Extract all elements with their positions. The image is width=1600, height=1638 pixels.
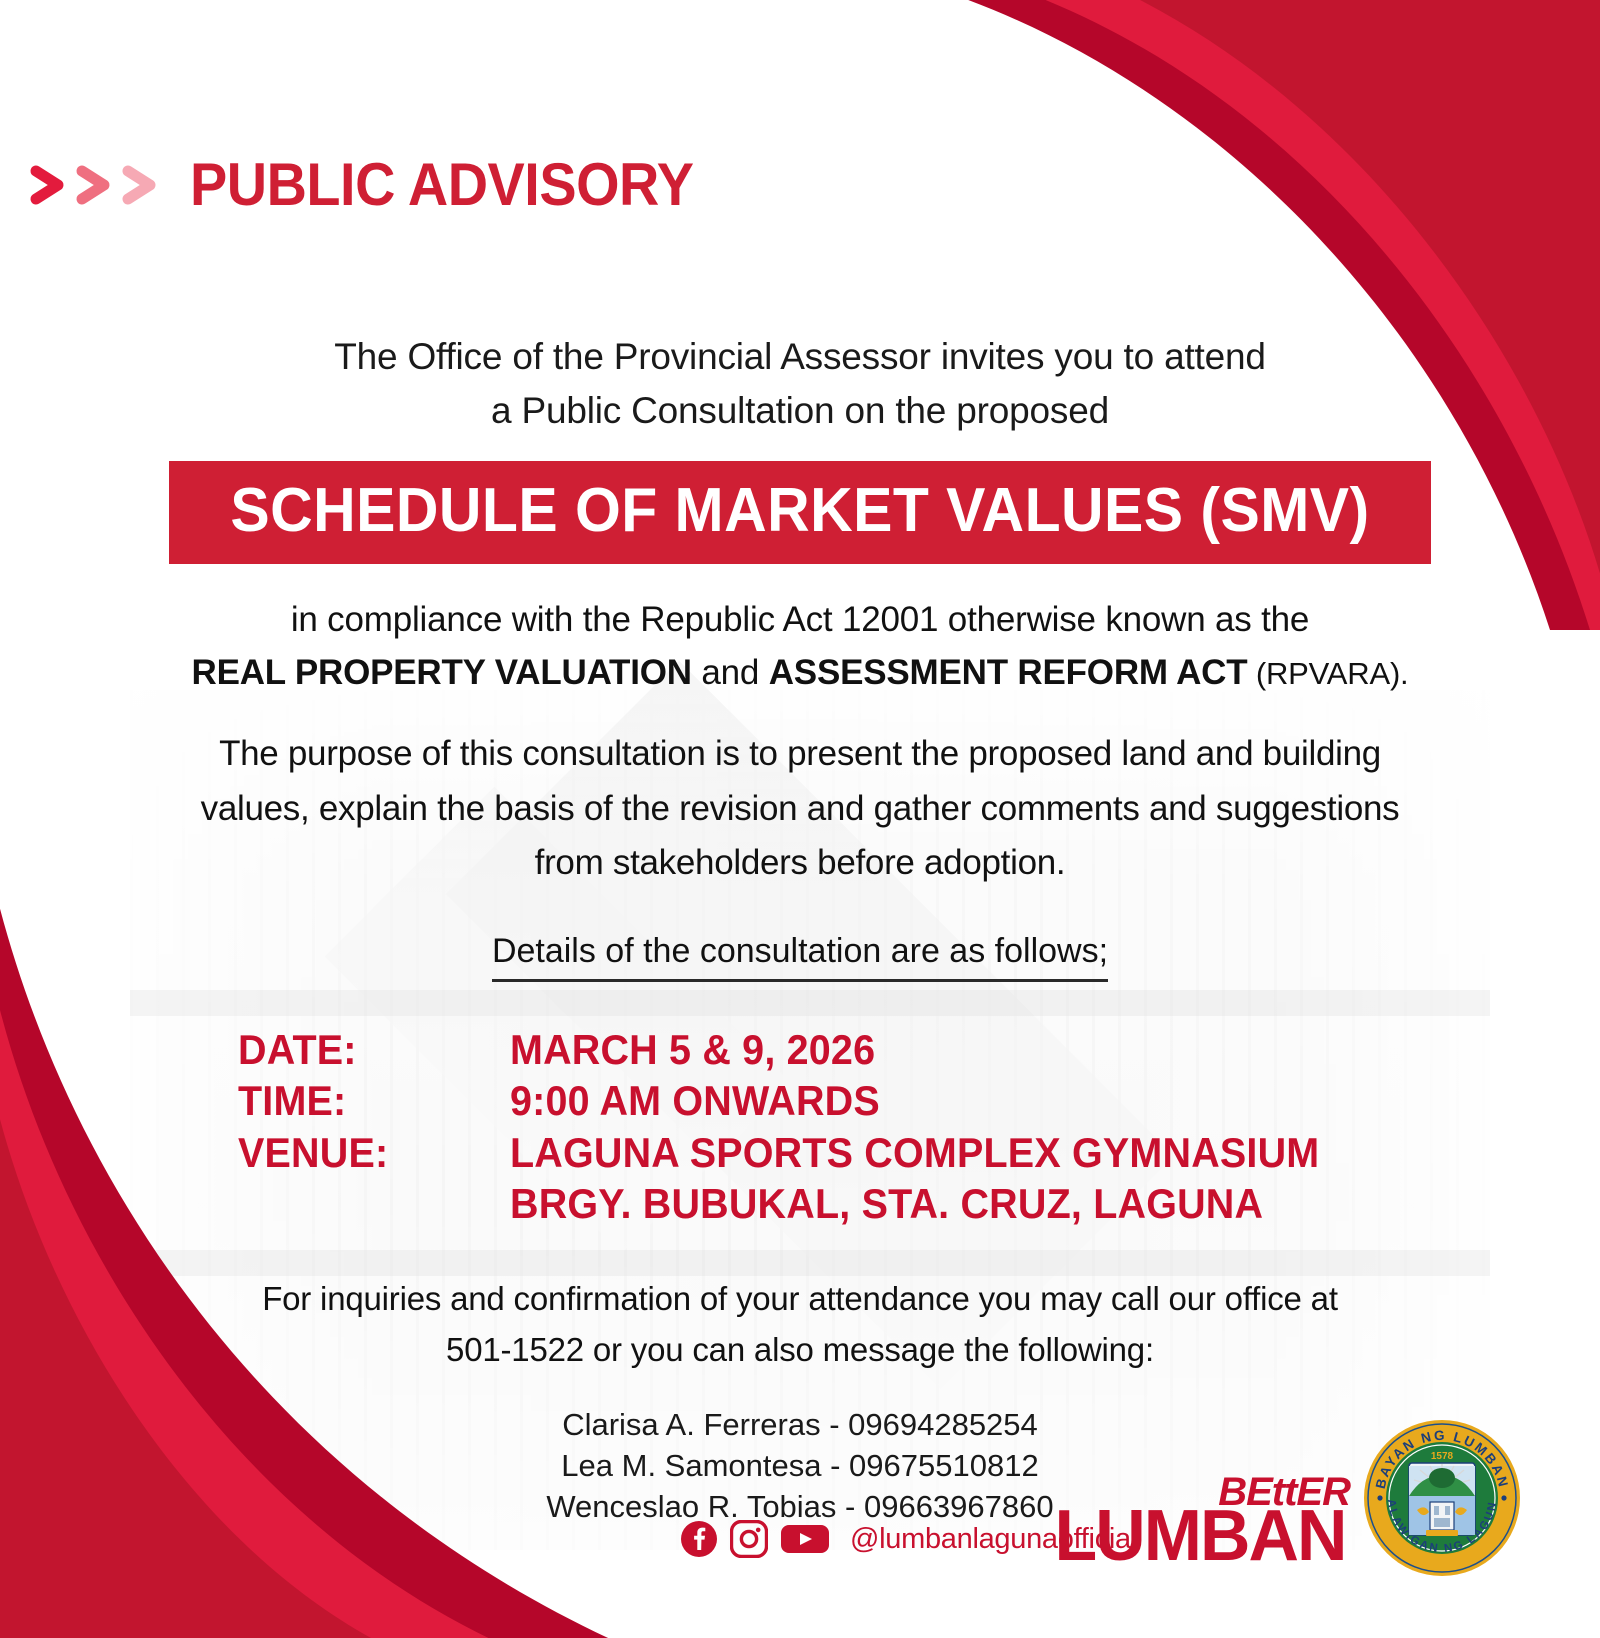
details-heading: Details of the consultation are as follo… <box>492 932 1108 982</box>
details-value-date: MARCH 5 & 9, 2026 <box>510 1024 1319 1075</box>
details-inner: DATE: TIME: VENUE: MARCH 5 & 9, 2026 9:0… <box>228 1024 1371 1229</box>
intro-line-2: a Public Consultation on the proposed <box>150 384 1450 438</box>
poster-header: PUBLIC ADVISORY <box>28 150 731 219</box>
details-values: MARCH 5 & 9, 2026 9:00 AM ONWARDS LAGUNA… <box>510 1024 1371 1229</box>
details-label-time: TIME: <box>238 1075 494 1126</box>
instagram-icon[interactable] <box>730 1520 768 1558</box>
seal-year: 1578 <box>1431 1451 1454 1462</box>
chevron-right-icon <box>120 163 164 207</box>
intro-line-1: The Office of the Provincial Assessor in… <box>150 330 1450 384</box>
details-labels: DATE: TIME: VENUE: <box>228 1024 510 1229</box>
details-block: DATE: TIME: VENUE: MARCH 5 & 9, 2026 9:0… <box>0 1024 1600 1229</box>
purpose-paragraph: The purpose of this consultation is to p… <box>0 727 1600 890</box>
purpose-line-1: The purpose of this consultation is to p… <box>110 727 1490 781</box>
inquiries-line-1: For inquiries and confirmation of your a… <box>0 1273 1600 1324</box>
compliance-paragraph: in compliance with the Republic Act 1200… <box>0 594 1600 699</box>
details-value-venue-line-1: LAGUNA SPORTS COMPLEX GYMNASIUM <box>510 1127 1319 1178</box>
chevron-right-icon <box>74 163 118 207</box>
compliance-conjunction: and <box>692 653 769 692</box>
inquiries-paragraph: For inquiries and confirmation of your a… <box>0 1273 1600 1375</box>
facebook-icon[interactable] <box>680 1520 718 1558</box>
details-value-time: 9:00 AM ONWARDS <box>510 1075 1319 1126</box>
purpose-line-2: values, explain the basis of the revisio… <box>110 782 1490 836</box>
chevron-right-icon <box>28 163 72 207</box>
compliance-acronym: (RPVARA). <box>1247 656 1408 691</box>
chevron-group <box>28 163 164 207</box>
purpose-line-3: from stakeholders before adoption. <box>110 836 1490 890</box>
details-label-venue: VENUE: <box>238 1127 494 1178</box>
poster-body: The Office of the Provincial Assessor in… <box>0 330 1600 1528</box>
advisory-poster: PUBLIC ADVISORY The Office of the Provin… <box>0 0 1600 1638</box>
smv-banner-title: SCHEDULE OF MARKET VALUES (SMV) <box>201 475 1400 546</box>
details-heading-wrap: Details of the consultation are as follo… <box>0 890 1600 982</box>
details-label-date: DATE: <box>238 1024 494 1075</box>
compliance-line-2: REAL PROPERTY VALUATION and ASSESSMENT R… <box>0 647 1600 700</box>
smv-banner: SCHEDULE OF MARKET VALUES (SMV) <box>169 461 1431 564</box>
brand-lumban-text: LUMBAN <box>1055 1508 1346 1566</box>
youtube-icon[interactable] <box>780 1520 830 1558</box>
municipal-seal-icon: BAYAN NG LUMBAN LALAWIGAN NG LAGUNA 1578 <box>1362 1418 1522 1578</box>
compliance-line-1: in compliance with the Republic Act 1200… <box>0 594 1600 647</box>
compliance-act-name-1: REAL PROPERTY VALUATION <box>192 653 692 692</box>
inquiries-line-2: 501-1522 or you can also message the fol… <box>0 1324 1600 1375</box>
poster-footer: @lumbanlagunaofficial BEttER LUMBAN BAYA… <box>0 1416 1600 1586</box>
compliance-act-name-2: ASSESSMENT REFORM ACT <box>769 653 1248 692</box>
better-lumban-logo: BEttER LUMBAN <box>1050 1476 1350 1566</box>
details-value-venue-line-2: BRGY. BUBUKAL, STA. CRUZ, LAGUNA <box>510 1178 1319 1229</box>
intro-paragraph: The Office of the Provincial Assessor in… <box>0 330 1600 437</box>
page-title: PUBLIC ADVISORY <box>190 150 694 219</box>
